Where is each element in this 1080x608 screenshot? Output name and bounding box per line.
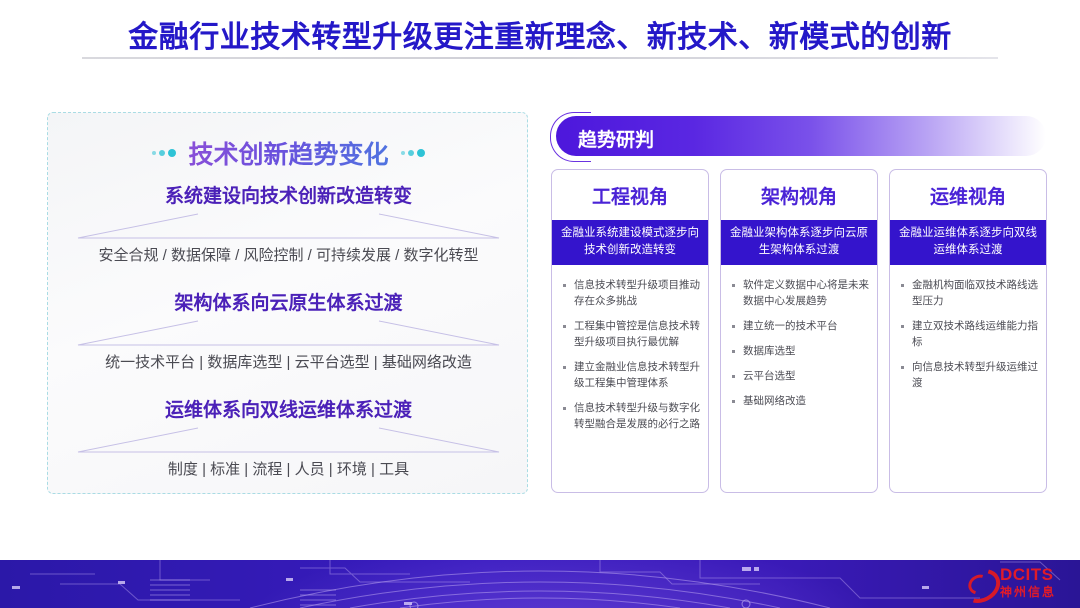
banner-arc-decoration-icon	[550, 112, 591, 162]
page-title: 金融行业技术转型升级更注重新理念、新技术、新模式的创新	[0, 12, 1080, 56]
section-banner: 趋势研判	[556, 116, 1046, 156]
trend-subtitle: 统一技术平台 | 数据库选型 | 云平台选型 | 基础网络改造	[48, 351, 529, 372]
perspective-card-architecture[interactable]: 架构视角 金融业架构体系逐步向云原生架构体系过渡 软件定义数据中心将是未来数据中…	[720, 169, 878, 493]
card-title: 工程视角	[552, 170, 708, 220]
list-item: 建立双技术路线运维能力指标	[898, 318, 1038, 350]
title-divider	[82, 57, 998, 59]
list-item: 云平台选型	[729, 368, 869, 384]
trend-change-panel: 技术创新趋势变化 系统建设向技术创新改造转变 安全合规 / 数据保障 / 风险控…	[47, 112, 528, 494]
trend-item: 架构体系向云原生体系过渡 统一技术平台 | 数据库选型 | 云平台选型 | 基础…	[48, 288, 529, 372]
perspective-cards: 工程视角 金融业系统建设模式逐步向技术创新改造转变 信息技术转型升级项目推动存在…	[551, 169, 1048, 493]
funnel-shape-icon	[48, 319, 529, 349]
dcits-swirl-icon	[961, 567, 995, 597]
card-summary: 金融业运维体系逐步向双线运维体系过渡	[890, 220, 1046, 265]
card-bullet-list: 信息技术转型升级项目推动存在众多挑战 工程集中管控是信息技术转型升级项目执行最优…	[552, 265, 708, 492]
card-summary: 金融业系统建设模式逐步向技术创新改造转变	[552, 220, 708, 265]
trend-subtitle: 安全合规 / 数据保障 / 风险控制 / 可持续发展 / 数字化转型	[48, 244, 529, 265]
left-panel-heading: 技术创新趋势变化	[48, 135, 529, 171]
perspective-card-operations[interactable]: 运维视角 金融业运维体系逐步向双线运维体系过渡 金融机构面临双技术路线选型压力 …	[889, 169, 1047, 493]
logo-text-cn: 神州信息	[1000, 586, 1056, 598]
dots-right-icon	[401, 149, 425, 157]
list-item: 信息技术转型升级与数字化转型融合是发展的必行之路	[560, 400, 700, 432]
list-item: 数据库选型	[729, 343, 869, 359]
circuit-pattern-icon	[0, 560, 1080, 608]
list-item: 信息技术转型升级项目推动存在众多挑战	[560, 277, 700, 309]
list-item: 建立统一的技术平台	[729, 318, 869, 334]
card-bullet-list: 软件定义数据中心将是未来数据中心发展趋势 建立统一的技术平台 数据库选型 云平台…	[721, 265, 877, 492]
list-item: 工程集中管控是信息技术转型升级项目执行最优解	[560, 318, 700, 350]
trend-title: 运维体系向双线运维体系过渡	[48, 395, 529, 422]
list-item: 基础网络改造	[729, 393, 869, 409]
card-summary: 金融业架构体系逐步向云原生架构体系过渡	[721, 220, 877, 265]
trend-subtitle: 制度 | 标准 | 流程 | 人员 | 环境 | 工具	[48, 458, 529, 479]
card-title: 架构视角	[721, 170, 877, 220]
trend-item: 系统建设向技术创新改造转变 安全合规 / 数据保障 / 风险控制 / 可持续发展…	[48, 181, 529, 265]
dots-left-icon	[152, 149, 176, 157]
list-item: 向信息技术转型升级运维过渡	[898, 359, 1038, 391]
footer-band: DCITS 神州信息	[0, 560, 1080, 608]
trend-item: 运维体系向双线运维体系过渡 制度 | 标准 | 流程 | 人员 | 环境 | 工…	[48, 395, 529, 479]
list-item: 建立金融业信息技术转型升级工程集中管理体系	[560, 359, 700, 391]
card-title: 运维视角	[890, 170, 1046, 220]
left-panel-heading-label: 技术创新趋势变化	[188, 135, 388, 171]
funnel-shape-icon	[48, 426, 529, 456]
trend-title: 架构体系向云原生体系过渡	[48, 288, 529, 315]
perspective-card-engineering[interactable]: 工程视角 金融业系统建设模式逐步向技术创新改造转变 信息技术转型升级项目推动存在…	[551, 169, 709, 493]
logo-text-en: DCITS	[1000, 566, 1056, 583]
company-logo: DCITS 神州信息	[961, 566, 1056, 598]
list-item: 金融机构面临双技术路线选型压力	[898, 277, 1038, 309]
funnel-shape-icon	[48, 212, 529, 242]
trend-title: 系统建设向技术创新改造转变	[48, 181, 529, 208]
list-item: 软件定义数据中心将是未来数据中心发展趋势	[729, 277, 869, 309]
card-bullet-list: 金融机构面临双技术路线选型压力 建立双技术路线运维能力指标 向信息技术转型升级运…	[890, 265, 1046, 492]
